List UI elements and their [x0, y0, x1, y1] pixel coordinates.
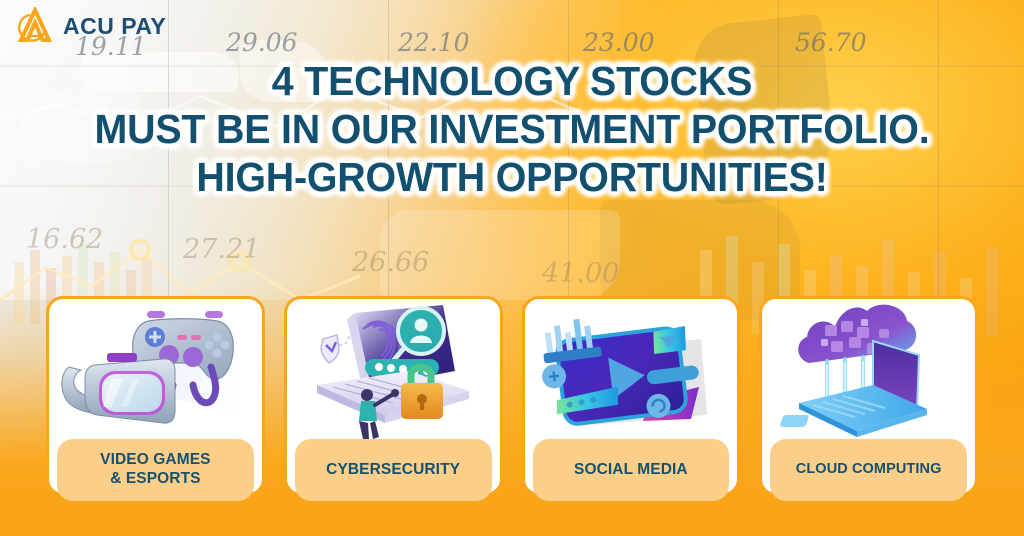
card-label-line-2: & ESPORTS: [110, 470, 200, 487]
background-price-value: 23.00: [583, 28, 655, 57]
card-social-media[interactable]: SOCIAL MEDIA: [522, 296, 741, 496]
card-label-line-1: CYBERSECURITY: [326, 461, 460, 480]
background-price-value: 16.62: [26, 224, 103, 255]
card-cloud-computing[interactable]: CLOUD COMPUTING: [759, 296, 978, 496]
promo-banner: 19.11 29.06 22.10 23.00 56.70 16.62 27.2…: [0, 0, 1024, 536]
background-price-value: 22.10: [398, 28, 470, 57]
vr-headset-and-gamepad-icon: [49, 299, 262, 449]
laptop-fingerprint-padlock-icon: [287, 299, 500, 449]
card-label-line-1: SOCIAL MEDIA: [574, 461, 688, 480]
card-video-games-esports[interactable]: VIDEO GAMES & ESPORTS: [46, 296, 265, 496]
category-card-list: VIDEO GAMES & ESPORTS: [46, 296, 978, 496]
background-price-value: 56.70: [795, 28, 867, 57]
background-price-value: 27.21: [183, 234, 260, 265]
card-label-cybersecurity: CYBERSECURITY: [295, 439, 492, 501]
card-cybersecurity[interactable]: CYBERSECURITY: [284, 296, 503, 496]
background-price-value: 26.66: [352, 247, 429, 278]
cloud-and-laptop-icon: [762, 299, 975, 449]
background-price-value: 29.06: [226, 28, 298, 57]
card-label-video-games-esports: VIDEO GAMES & ESPORTS: [57, 439, 254, 501]
acupay-logo-icon: [16, 7, 54, 45]
brand-logo[interactable]: ACU PAY: [16, 7, 166, 45]
card-label-line-1: VIDEO GAMES: [100, 451, 210, 468]
brand-name: ACU PAY: [63, 13, 166, 40]
card-label-line-1: CLOUD COMPUTING: [796, 461, 942, 479]
media-play-card-icon: [525, 299, 738, 449]
card-label-social-media: SOCIAL MEDIA: [533, 439, 730, 501]
card-label-cloud-computing: CLOUD COMPUTING: [770, 439, 967, 501]
background-price-value: 41.00: [542, 258, 619, 289]
